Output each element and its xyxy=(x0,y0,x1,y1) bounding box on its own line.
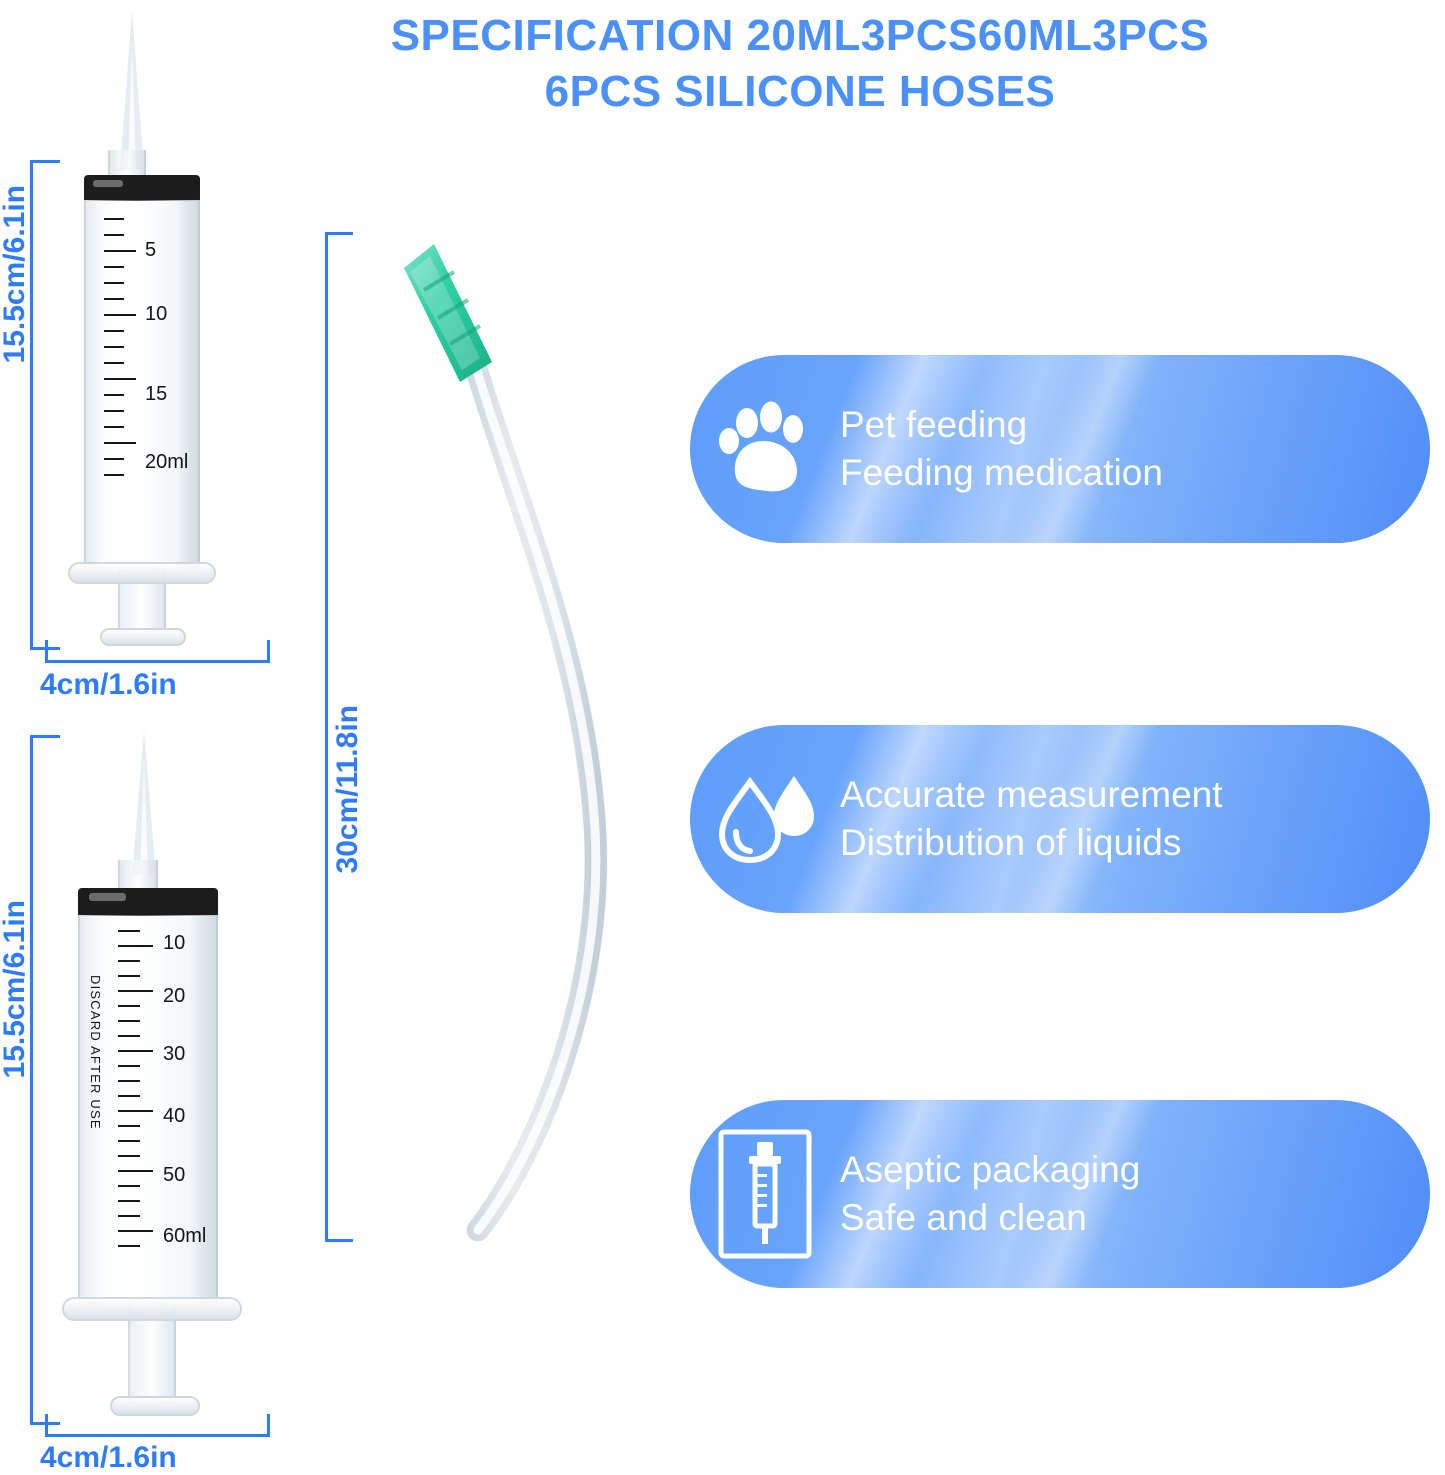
feature-pill-accurate-measurement[interactable]: Accurate measurement Distribution of liq… xyxy=(690,725,1430,913)
feature-pill-pet-feeding[interactable]: Pet feeding Feeding medication xyxy=(690,355,1430,543)
syringe20-nozzle xyxy=(108,150,146,178)
syringe60-mark-30: 30 xyxy=(163,1043,185,1066)
syringe60-height-label: 15.5cm/6.1in xyxy=(0,900,30,1078)
feature-2-text: Accurate measurement Distribution of liq… xyxy=(840,771,1223,867)
syringe20-height-label: 15.5cm/6.1in xyxy=(0,185,30,363)
silicone-hose xyxy=(400,230,680,1260)
syringe20-flange xyxy=(68,562,216,584)
water-drops-icon xyxy=(690,760,840,878)
syringe20-thumb-pad xyxy=(100,628,186,646)
syringe60-mark-60ml: 60ml xyxy=(163,1225,206,1248)
page-title: SPECIFICATION 20ML3PCS60ML3PCS 6PCS SILI… xyxy=(160,8,1440,120)
syringe-package-icon xyxy=(690,1124,840,1264)
feature-1-line2: Feeding medication xyxy=(840,449,1163,497)
syringe60-mark-40: 40 xyxy=(163,1105,185,1128)
feature-1-line1: Pet feeding xyxy=(840,401,1163,449)
syringe60-mark-10: 10 xyxy=(163,932,185,955)
feature-3-line2: Safe and clean xyxy=(840,1194,1140,1242)
feature-2-line2: Distribution of liquids xyxy=(840,819,1223,867)
feature-3-text: Aseptic packaging Safe and clean xyxy=(840,1146,1140,1242)
syringe60-tip-highlight xyxy=(140,758,148,875)
syringe20-mark-20ml: 20ml xyxy=(145,451,188,474)
syringe20-barrel xyxy=(84,200,200,570)
syringe20-mark-15: 15 xyxy=(145,383,167,406)
syringe60-mark-50: 50 xyxy=(163,1164,185,1187)
page-title-line2: 6PCS SILICONE HOSES xyxy=(160,64,1440,120)
syringe20-width-label: 4cm/1.6in xyxy=(40,668,177,702)
feature-1-text: Pet feeding Feeding medication xyxy=(840,401,1163,497)
syringe20-mark-5: 5 xyxy=(145,239,156,262)
feature-2-line1: Accurate measurement xyxy=(840,771,1223,819)
page-title-line1: SPECIFICATION 20ML3PCS60ML3PCS xyxy=(160,8,1440,64)
syringe60-side-text: DISCARD AFTER USE xyxy=(88,975,103,1130)
hose-tube xyxy=(468,340,596,1230)
hose-green-tip xyxy=(404,244,492,382)
syringe60-thumb-pad xyxy=(110,1396,200,1416)
feature-3-line1: Aseptic packaging xyxy=(840,1146,1140,1194)
hose-length-label: 30cm/11.8in xyxy=(333,705,363,873)
syringe60-flange xyxy=(62,1297,242,1321)
syringe20-mark-10: 10 xyxy=(145,303,167,326)
syringe20-plunger-cap xyxy=(84,175,200,201)
feature-pill-aseptic-packaging[interactable]: Aseptic packaging Safe and clean xyxy=(690,1100,1430,1288)
paw-icon xyxy=(690,393,840,505)
syringe60-mark-20: 20 xyxy=(163,985,185,1008)
syringe60-width-label: 4cm/1.6in xyxy=(40,1441,177,1475)
syringe60-plunger-cap xyxy=(78,888,218,916)
